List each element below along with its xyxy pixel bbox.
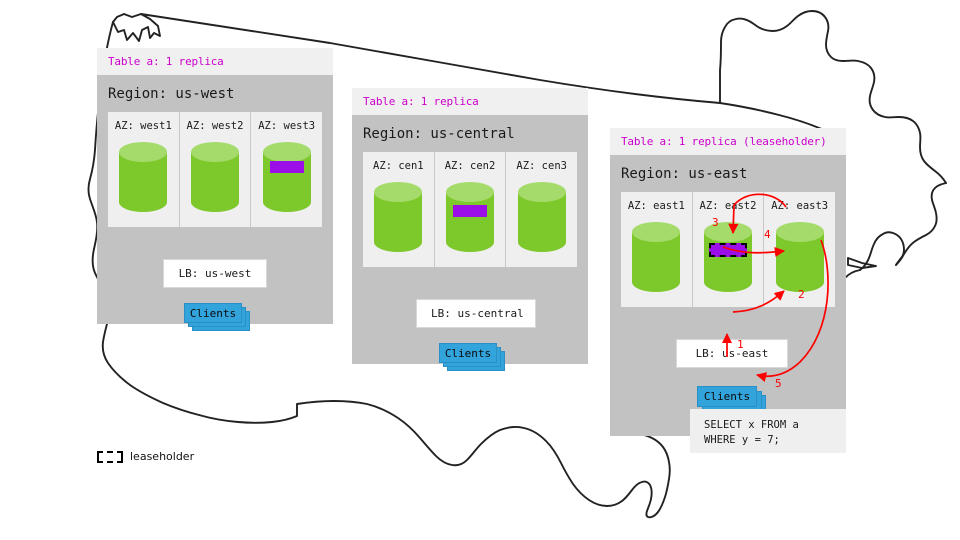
panel-body-us-east: Region: us-east AZ: east1 AZ: ea	[610, 155, 846, 436]
load-balancer-us-east[interactable]: LB: us-east	[676, 339, 788, 368]
replica-block-west3	[270, 161, 304, 173]
cylinder-shape	[444, 181, 496, 253]
node-cylinder-west1[interactable]	[117, 141, 169, 213]
cylinder-shape	[516, 181, 568, 253]
az-label-west1: AZ: west1	[108, 120, 179, 132]
cylinder-shape	[630, 221, 682, 293]
panel-header-us-east: Table a: 1 replica (leaseholder)	[610, 128, 846, 155]
az-label-east2: AZ: east2	[693, 200, 764, 212]
az-cell-west1[interactable]: AZ: west1	[108, 112, 180, 227]
leaseholder-swatch-icon	[97, 451, 123, 463]
az-label-cen2: AZ: cen2	[435, 160, 506, 172]
arrow-step-label-3: 3	[712, 216, 719, 229]
node-cylinder-east3[interactable]	[774, 221, 826, 293]
node-cylinder-cen1[interactable]	[372, 181, 424, 253]
cylinder-shape	[372, 181, 424, 253]
arrow-step-label-4: 4	[764, 228, 771, 241]
az-cell-cen3[interactable]: AZ: cen3	[506, 152, 577, 267]
node-cylinder-east2[interactable]	[702, 221, 754, 293]
node-cylinder-west3[interactable]	[261, 141, 313, 213]
cylinder-shape	[774, 221, 826, 293]
az-cell-west2[interactable]: AZ: west2	[180, 112, 252, 227]
panel-body-us-central: Region: us-central AZ: cen1 AZ:	[352, 115, 588, 364]
region-title-us-central: Region: us-central	[352, 115, 588, 152]
az-label-cen3: AZ: cen3	[506, 160, 577, 172]
az-cell-west3[interactable]: AZ: west3	[251, 112, 322, 227]
arrow-step-label-1: 1	[737, 338, 744, 351]
legend-label-leaseholder: leaseholder	[130, 450, 194, 463]
cylinder-shape	[261, 141, 313, 213]
az-cell-east1[interactable]: AZ: east1	[621, 192, 693, 307]
clients-stack-us-central[interactable]: Clients	[439, 343, 505, 371]
region-panel-us-west: Table a: 1 replica Region: us-west AZ: w…	[97, 48, 333, 324]
legend: leaseholder	[97, 450, 194, 463]
az-label-east1: AZ: east1	[621, 200, 692, 212]
az-label-west3: AZ: west3	[251, 120, 322, 132]
arrow-step-label-5: 5	[775, 377, 782, 390]
region-title-us-west: Region: us-west	[97, 75, 333, 112]
cylinder-shape	[702, 221, 754, 293]
node-cylinder-cen2[interactable]	[444, 181, 496, 253]
region-panel-us-central: Table a: 1 replica Region: us-central AZ…	[352, 88, 588, 364]
az-cell-cen1[interactable]: AZ: cen1	[363, 152, 435, 267]
load-balancer-us-central[interactable]: LB: us-central	[416, 299, 536, 328]
replica-block-cen2	[453, 205, 487, 217]
panel-header-us-west: Table a: 1 replica	[97, 48, 333, 75]
az-label-west2: AZ: west2	[180, 120, 251, 132]
panel-body-us-west: Region: us-west AZ: west1 AZ: we	[97, 75, 333, 324]
panel-header-us-central: Table a: 1 replica	[352, 88, 588, 115]
sql-query-box: SELECT x FROM a WHERE y = 7;	[690, 409, 846, 453]
region-panel-us-east: Table a: 1 replica (leaseholder) Region:…	[610, 128, 846, 436]
clients-label-us-west[interactable]: Clients	[184, 303, 242, 323]
clients-label-us-east[interactable]: Clients	[697, 386, 757, 407]
leaseholder-replica-east2	[709, 243, 747, 257]
arrow-step-label-2: 2	[798, 288, 805, 301]
cylinder-shape	[189, 141, 241, 213]
az-label-cen1: AZ: cen1	[363, 160, 434, 172]
node-cylinder-east1[interactable]	[630, 221, 682, 293]
az-row-us-central: AZ: cen1 AZ: cen2	[363, 152, 577, 267]
node-cylinder-west2[interactable]	[189, 141, 241, 213]
diagram-canvas: Table a: 1 replica Region: us-west AZ: w…	[0, 0, 960, 540]
clients-label-us-central[interactable]: Clients	[439, 343, 497, 363]
az-cell-east2[interactable]: AZ: east2	[693, 192, 765, 307]
az-cell-cen2[interactable]: AZ: cen2	[435, 152, 507, 267]
cylinder-shape	[117, 141, 169, 213]
az-label-east3: AZ: east3	[764, 200, 835, 212]
region-title-us-east: Region: us-east	[610, 155, 846, 192]
clients-stack-us-west[interactable]: Clients	[184, 303, 250, 331]
load-balancer-us-west[interactable]: LB: us-west	[163, 259, 267, 288]
az-row-us-west: AZ: west1 AZ: west2	[108, 112, 322, 227]
node-cylinder-cen3[interactable]	[516, 181, 568, 253]
